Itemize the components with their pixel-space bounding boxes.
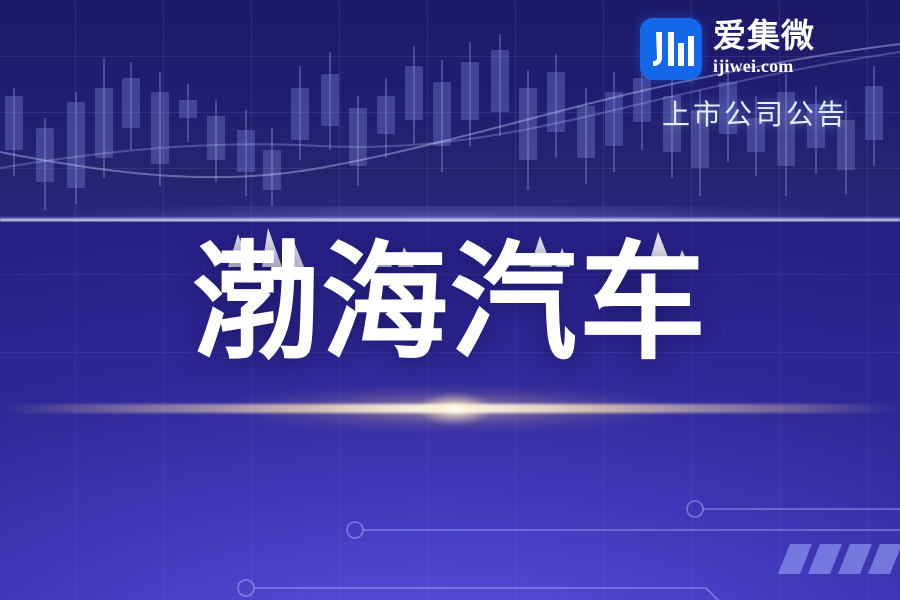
brand-subtitle: 上市公司公告: [640, 93, 870, 133]
page-title: 渤海汽车: [0, 236, 900, 371]
flare-star-burst: [400, 386, 510, 432]
circuit-decoration: [0, 444, 900, 600]
brand-name-en: ijiwei.com: [713, 57, 815, 77]
brand-name-cn: 爱集微: [713, 21, 815, 55]
announcement-card: 爱集微 ijiwei.com 上市公司公告 渤海汽车: [0, 0, 900, 600]
ijiwei-bar-chart-logo-icon: [640, 18, 702, 80]
brand-block: 爱集微 ijiwei.com 上市公司公告: [640, 18, 870, 133]
